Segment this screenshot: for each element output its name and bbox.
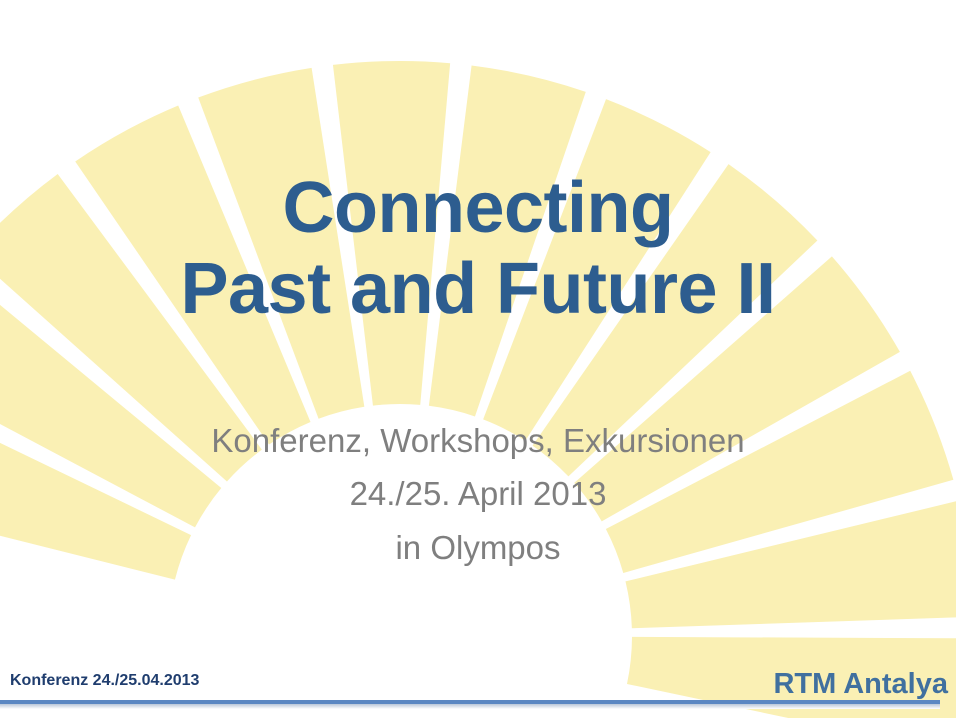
footer-organization-name: RTM Antalya [773, 668, 948, 701]
title-line-1: Connecting [0, 168, 956, 249]
subtitle-line-1: Konferenz, Workshops, Exkursionen [0, 414, 956, 467]
title-line-2: Past and Future II [0, 249, 956, 330]
slide-title: Connecting Past and Future II [0, 168, 956, 331]
subtitle-line-3: in Olympos [0, 521, 956, 574]
slide-subtitle: Konferenz, Workshops, Exkursionen 24./25… [0, 414, 956, 574]
presentation-slide: Connecting Past and Future II Konferenz,… [0, 0, 956, 718]
slide-content: Connecting Past and Future II Konferenz,… [0, 0, 956, 718]
footer-conference-date: Konferenz 24./25.04.2013 [10, 672, 199, 690]
footer-divider-shadow [0, 704, 940, 709]
subtitle-line-2: 24./25. April 2013 [0, 467, 956, 520]
